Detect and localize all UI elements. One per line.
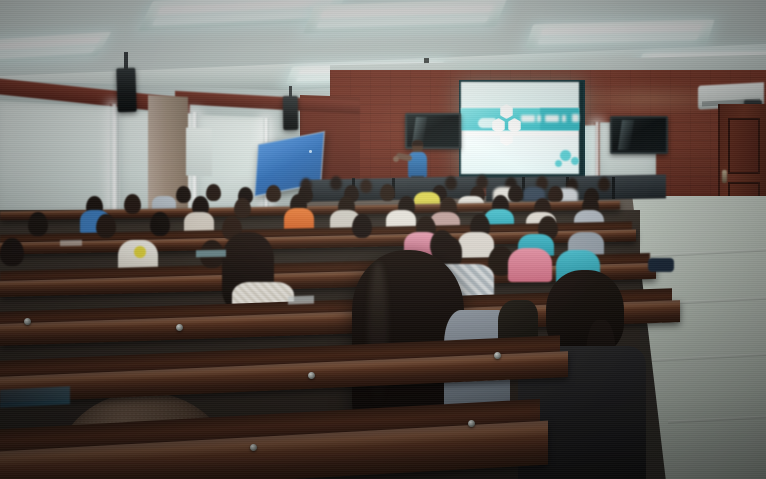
audience-head <box>28 212 48 236</box>
wall-monitor-right <box>610 116 668 154</box>
desk-bolt <box>24 318 31 325</box>
foreground-hair-sheen <box>368 262 388 412</box>
audience-head <box>352 214 372 238</box>
audience-head <box>124 194 141 214</box>
ceiling-speaker-center <box>283 96 299 130</box>
audience-head <box>598 177 610 191</box>
audience-head <box>548 186 563 203</box>
board-marker-dot <box>309 150 312 153</box>
presenter-hair <box>412 140 423 146</box>
ceiling-speaker-left <box>116 68 137 113</box>
door-panel-upper <box>728 118 760 174</box>
desk-paper <box>60 240 82 246</box>
desk-paper <box>0 386 70 408</box>
desk-paper <box>288 296 314 305</box>
lecture-hall-photo <box>0 0 766 479</box>
floor-bag <box>648 258 674 272</box>
presenter-hand <box>393 156 399 162</box>
desk-bolt <box>250 444 257 451</box>
door-handle-icon[interactable] <box>722 170 727 183</box>
audience-head <box>266 185 281 202</box>
audience-head <box>330 176 342 190</box>
desk-bolt <box>468 420 475 427</box>
audience-head <box>445 176 457 190</box>
audience-body-pink <box>508 248 552 282</box>
whiteboard <box>186 128 212 177</box>
desk-bolt <box>494 352 501 359</box>
screen-glare <box>461 82 579 174</box>
shirt-badge-icon <box>134 246 146 258</box>
audience-head <box>0 238 24 266</box>
audience-head <box>360 179 372 193</box>
audience-head <box>234 198 251 218</box>
desk-paper <box>196 250 226 258</box>
desk-bolt <box>176 324 183 331</box>
audience-head <box>150 212 170 236</box>
stage-chair-gap-5 <box>612 177 615 199</box>
audience-head <box>176 186 191 203</box>
audience-head <box>380 184 395 201</box>
desk-bolt <box>308 372 315 379</box>
audience-head <box>96 214 116 238</box>
audience-head <box>206 184 221 201</box>
audience-head <box>508 185 523 202</box>
ceiling-light-4 <box>525 20 714 49</box>
